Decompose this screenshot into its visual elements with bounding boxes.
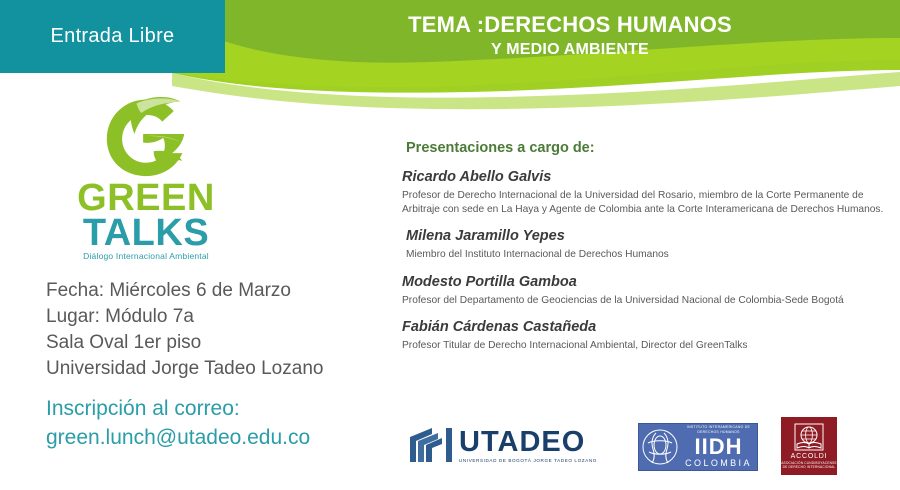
- presenter-item: Milena Jaramillo Yepes Miembro del Insti…: [406, 227, 893, 262]
- utadeo-logo: UTADEO UNIVERSIDAD DE BOGOTÁ JORGE TADEO…: [408, 424, 597, 466]
- greentalks-logo: GREEN TALKS Diálogo Internacional Ambien…: [46, 92, 246, 261]
- iidh-figure-icon: [642, 427, 678, 467]
- topic-title-line2: Y MEDIO AMBIENTE: [250, 40, 890, 60]
- accoldi-globe-book-icon: [794, 423, 824, 451]
- presenter-name: Ricardo Abello Galvis: [402, 168, 893, 187]
- event-detail-university: Universidad Jorge Tadeo Lozano: [46, 356, 386, 382]
- greentalks-leaf-g-icon: [98, 92, 194, 178]
- entrada-libre-label: Entrada Libre: [51, 25, 175, 48]
- presenter-item: Modesto Portilla Gamboa Profesor del Dep…: [402, 273, 893, 308]
- presenter-bio: Profesor del Departamento de Geociencias…: [402, 294, 893, 308]
- presenter-name: Modesto Portilla Gamboa: [402, 273, 893, 292]
- utadeo-subtitle: UNIVERSIDAD DE BOGOTÁ JORGE TADEO LOZANO: [459, 458, 597, 463]
- presenter-bio: Profesor de Derecho Internacional de la …: [402, 189, 893, 216]
- accoldi-wordmark: ACCOLDI: [791, 453, 828, 461]
- event-detail-date: Fecha: Miércoles 6 de Marzo: [46, 278, 386, 304]
- presenter-item: Fabián Cárdenas Castañeda Profesor Titul…: [402, 318, 893, 353]
- iidh-wordmark: IIDH: [680, 435, 757, 458]
- brand-name-green: GREEN: [46, 180, 246, 216]
- presenter-bio: Profesor Titular de Derecho Internaciona…: [402, 339, 893, 353]
- accoldi-logo: ACCOLDI ASOCIACIÓN CUNDIBOYACENSE DE DER…: [781, 417, 837, 475]
- signup-email[interactable]: green.lunch@utadeo.edu.co: [46, 423, 386, 452]
- event-poster: Entrada Libre TEMA :DERECHOS HUMANOS Y M…: [0, 0, 900, 490]
- utadeo-building-icon: [408, 424, 454, 466]
- topic-title-block: TEMA :DERECHOS HUMANOS Y MEDIO AMBIENTE: [250, 12, 890, 60]
- presenter-name: Fabián Cárdenas Castañeda: [402, 318, 893, 337]
- presenters-heading: Presentaciones a cargo de:: [406, 140, 893, 156]
- presenter-name: Milena Jaramillo Yepes: [406, 227, 893, 246]
- event-detail-place: Lugar: Módulo 7a: [46, 304, 386, 330]
- signup-block: Inscripción al correo: green.lunch@utade…: [46, 394, 386, 452]
- sponsor-logo-row: UTADEO UNIVERSIDAD DE BOGOTÁ JORGE TADEO…: [400, 414, 870, 480]
- brand-tagline: Diálogo Internacional Ambiental: [46, 251, 246, 261]
- accoldi-subtitle: ASOCIACIÓN CUNDIBOYACENSE DE DERECHO INT…: [781, 461, 837, 469]
- presenters-section: Presentaciones a cargo de: Ricardo Abell…: [398, 140, 893, 364]
- event-detail-room: Sala Oval 1er piso: [46, 330, 386, 356]
- event-details-block: Fecha: Miércoles 6 de Marzo Lugar: Módul…: [46, 278, 386, 382]
- iidh-subtitle: COLOMBIA: [680, 458, 757, 469]
- left-column: GREEN TALKS Diálogo Internacional Ambien…: [0, 92, 390, 490]
- brand-name-talks: TALKS: [46, 216, 246, 250]
- iidh-logo: INSTITUTO INTERAMERICANO DE DERECHOS HUM…: [638, 423, 758, 471]
- presenter-bio: Miembro del Instituto Internacional de D…: [406, 248, 893, 262]
- presenter-item: Ricardo Abello Galvis Profesor de Derech…: [402, 168, 893, 216]
- signup-label: Inscripción al correo:: [46, 394, 386, 423]
- entrada-libre-badge: Entrada Libre: [0, 0, 225, 73]
- utadeo-wordmark: UTADEO: [459, 428, 597, 457]
- topic-title-line1: TEMA :DERECHOS HUMANOS: [250, 12, 890, 38]
